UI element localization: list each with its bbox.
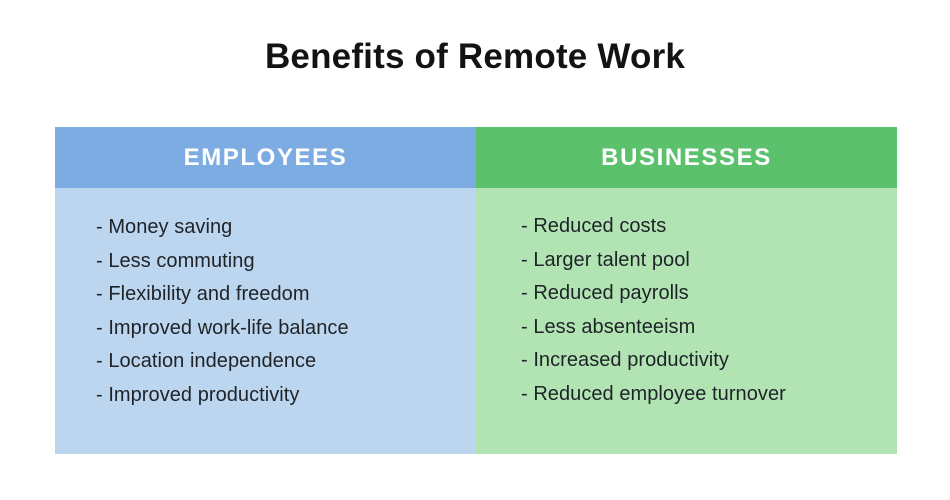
column-employees: EMPLOYEES - Money saving - Less commutin… — [55, 127, 476, 454]
infographic-canvas: Benefits of Remote Work EMPLOYEES - Mone… — [0, 0, 950, 500]
list-item: - Larger talent pool — [521, 244, 897, 278]
column-header-employees: EMPLOYEES — [55, 127, 476, 188]
list-item: - Less commuting — [96, 245, 476, 279]
list-item: - Improved productivity — [96, 379, 476, 413]
benefits-comparison-table: EMPLOYEES - Money saving - Less commutin… — [55, 127, 897, 454]
list-item: - Reduced costs — [521, 210, 897, 244]
column-body-businesses: - Reduced costs - Larger talent pool - R… — [476, 188, 897, 454]
list-item: - Money saving — [96, 211, 476, 245]
list-item: - Increased productivity — [521, 344, 897, 378]
column-header-businesses: BUSINESSES — [476, 127, 897, 188]
list-item: - Location independence — [96, 345, 476, 379]
list-item: - Flexibility and freedom — [96, 278, 476, 312]
list-item: - Improved work-life balance — [96, 312, 476, 346]
column-body-employees: - Money saving - Less commuting - Flexib… — [55, 188, 476, 454]
list-item: - Reduced employee turnover — [521, 378, 897, 412]
list-item: - Reduced payrolls — [521, 277, 897, 311]
column-businesses: BUSINESSES - Reduced costs - Larger tale… — [476, 127, 897, 454]
list-item: - Less absenteeism — [521, 311, 897, 345]
page-title: Benefits of Remote Work — [0, 36, 950, 78]
